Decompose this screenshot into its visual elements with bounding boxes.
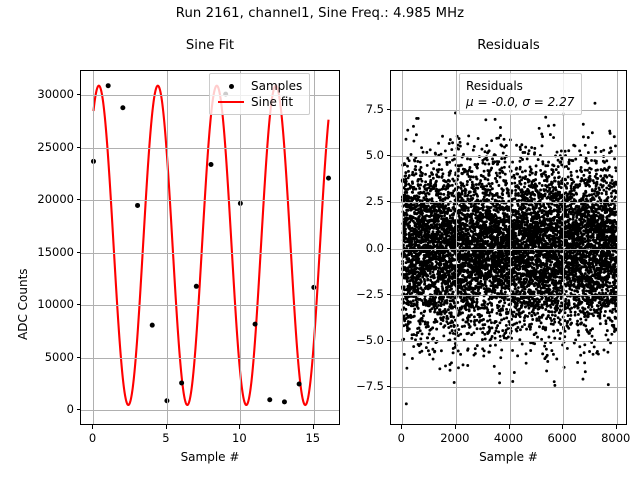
sample-point — [150, 323, 155, 328]
y-tick-label: 5000 — [16, 350, 74, 364]
y-tick-mark — [387, 386, 391, 387]
x-tick-mark — [401, 425, 402, 429]
y-tick-label: 15000 — [16, 245, 74, 259]
gridline-vertical — [93, 71, 94, 424]
y-tick-mark — [387, 248, 391, 249]
sample-point — [106, 83, 111, 88]
gridline-vertical — [167, 71, 168, 424]
samples-marker-icon — [216, 84, 246, 89]
y-tick-label: 5.0 — [326, 148, 384, 162]
x-tick-label: 5 — [162, 431, 169, 445]
y-tick-mark — [77, 357, 81, 358]
x-tick-label: 0 — [398, 431, 405, 445]
legend-entry-sine-fit: Sine fit — [216, 94, 302, 110]
gridline-horizontal — [81, 253, 339, 254]
gridline-horizontal — [391, 341, 626, 342]
gridline-horizontal — [391, 249, 626, 250]
x-tick-label: 8000 — [601, 431, 630, 445]
residuals-legend: Residuals μ = -0.0, σ = 2.27 — [459, 73, 582, 115]
sine-fit-title: Sine Fit — [80, 38, 340, 53]
gridline-horizontal — [81, 200, 339, 201]
legend-label-residuals: Residuals — [466, 78, 523, 94]
legend-entry-stats: μ = -0.0, σ = 2.27 — [466, 94, 574, 110]
residuals-axes — [390, 70, 627, 425]
gridline-horizontal — [81, 410, 339, 411]
sample-point — [120, 105, 125, 110]
gridline-vertical — [510, 71, 511, 424]
x-tick-mark — [562, 425, 563, 429]
legend-entry-samples: Samples — [216, 78, 302, 94]
y-tick-mark — [387, 201, 391, 202]
y-tick-mark — [77, 409, 81, 410]
y-tick-label: −2.5 — [326, 287, 384, 301]
y-tick-label: 2.5 — [326, 194, 384, 208]
x-tick-mark — [166, 425, 167, 429]
y-tick-label: 10000 — [16, 297, 74, 311]
y-tick-mark — [77, 304, 81, 305]
legend-label-stats: μ = -0.0, σ = 2.27 — [466, 94, 574, 110]
y-tick-label: 0.0 — [326, 241, 384, 255]
x-tick-label: 2000 — [440, 431, 469, 445]
legend-label-sine-fit: Sine fit — [251, 94, 293, 110]
gridline-vertical — [314, 71, 315, 424]
sine-fit-xlabel: Sample # — [80, 450, 340, 464]
sample-point — [326, 176, 331, 181]
x-tick-label: 0 — [89, 431, 96, 445]
sample-point — [179, 380, 184, 385]
gridline-vertical — [402, 71, 403, 424]
y-tick-mark — [77, 252, 81, 253]
gridline-horizontal — [81, 148, 339, 149]
y-tick-mark — [77, 199, 81, 200]
gridline-vertical — [617, 71, 618, 424]
gridline-horizontal — [81, 358, 339, 359]
y-tick-label: 20000 — [16, 192, 74, 206]
sample-point — [267, 397, 272, 402]
y-tick-label: 7.5 — [326, 102, 384, 116]
residuals-xlabel: Sample # — [390, 450, 627, 464]
matplotlib-figure: Run 2161, channel1, Sine Freq.: 4.985 MH… — [0, 0, 640, 480]
sample-point — [135, 203, 140, 208]
gridline-horizontal — [391, 202, 626, 203]
y-tick-label: 30000 — [16, 87, 74, 101]
y-tick-label: 0 — [16, 402, 74, 416]
gridline-horizontal — [81, 305, 339, 306]
x-tick-mark — [616, 425, 617, 429]
y-tick-label: −5.0 — [326, 333, 384, 347]
x-tick-mark — [92, 425, 93, 429]
gridline-horizontal — [391, 387, 626, 388]
y-tick-mark — [387, 155, 391, 156]
y-tick-label: −7.5 — [326, 379, 384, 393]
sample-point — [282, 399, 287, 404]
x-tick-mark — [509, 425, 510, 429]
y-tick-mark — [77, 94, 81, 95]
legend-entry-residuals: Residuals — [466, 78, 574, 94]
x-tick-label: 6000 — [547, 431, 576, 445]
y-tick-mark — [387, 294, 391, 295]
gridline-vertical — [456, 71, 457, 424]
sine-fit-canvas — [81, 71, 340, 425]
x-tick-label: 15 — [305, 431, 320, 445]
x-tick-label: 4000 — [494, 431, 523, 445]
sample-point — [194, 284, 199, 289]
y-tick-mark — [387, 340, 391, 341]
x-tick-mark — [455, 425, 456, 429]
x-tick-mark — [239, 425, 240, 429]
y-tick-label: 25000 — [16, 140, 74, 154]
sine-fit-line-icon — [216, 101, 246, 103]
sample-point — [253, 322, 258, 327]
residuals-title: Residuals — [390, 38, 627, 53]
sine-fit-legend: Samples Sine fit — [209, 73, 310, 115]
y-tick-mark — [387, 109, 391, 110]
sample-point — [209, 162, 214, 167]
sine-fit-axes — [80, 70, 340, 425]
x-tick-mark — [313, 425, 314, 429]
y-tick-mark — [77, 147, 81, 148]
gridline-horizontal — [391, 156, 626, 157]
x-tick-label: 10 — [232, 431, 247, 445]
sample-point — [297, 381, 302, 386]
figure-suptitle: Run 2161, channel1, Sine Freq.: 4.985 MH… — [0, 6, 640, 21]
legend-label-samples: Samples — [251, 78, 302, 94]
gridline-horizontal — [391, 295, 626, 296]
gridline-vertical — [563, 71, 564, 424]
gridline-vertical — [240, 71, 241, 424]
